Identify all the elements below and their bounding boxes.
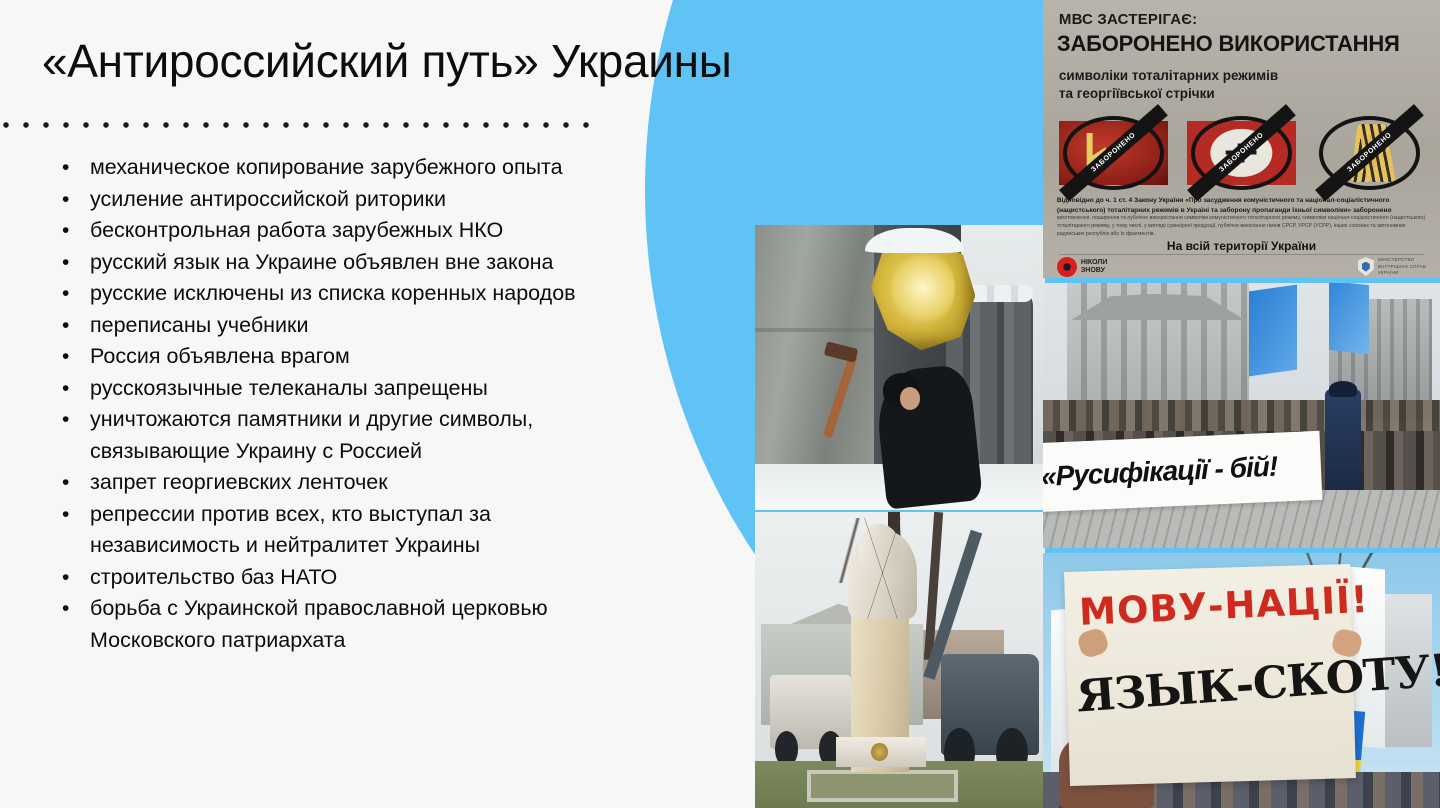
- bullet-label: русские исключены из списка коренных нар…: [90, 278, 636, 310]
- photo-bust-removal: [755, 512, 1045, 808]
- list-item: • русский язык на Украине объявлен вне з…: [46, 247, 636, 279]
- list-item: • русскоязычные телеканалы запрещены: [46, 373, 636, 405]
- bullet-marker: •: [46, 593, 90, 625]
- bullet-label: усиление антироссийской риторики: [90, 184, 636, 216]
- prohibition-icon-st-george-ribbon: ЗАБОРОНЕНО: [1315, 121, 1425, 184]
- list-item: • механическое копирование зарубежного о…: [46, 152, 636, 184]
- poster-heading-big-wrap: ЗАБОРОНЕНО ВИКОРИСТАННЯ: [1057, 33, 1430, 56]
- blue-flag: [1329, 283, 1369, 354]
- poster-fine-print-primary: Відповідно до ч. 1 ст. 4 Закону України …: [1057, 196, 1426, 215]
- page-title: «Антироссийский путь» Украины: [42, 36, 822, 88]
- poster-heading-small: МВС ЗАСТЕРІГАЄ:: [1059, 11, 1424, 28]
- list-item: • переписаны учебники: [46, 310, 636, 342]
- poster-prohibition-icons: ЗАБОРОНЕНО ЗАБОРОНЕНО ЗАБОРОНЕНО: [1059, 111, 1424, 194]
- police-cap: [1329, 381, 1357, 397]
- protest-banner: «Русифікації - бій!: [1043, 430, 1322, 511]
- poster-heading-big: ЗАБОРОНЕНО ВИКОРИСТАННЯ: [1057, 33, 1400, 55]
- placard-line-1: МОВУ-НАЦІЇ!: [1078, 579, 1343, 634]
- placard-line-2: ЯЗЫК-СКОТУ!: [1074, 653, 1351, 723]
- photo-movu-natsii-placard: МОВУ-НАЦІЇ! ЯЗЫК-СКОТУ!: [1043, 553, 1440, 808]
- poster-fine-print-secondary: виготовлення, поширення та публічне вико…: [1057, 215, 1426, 238]
- emblem-center: [891, 251, 955, 325]
- list-item: • усиление антироссийской риторики: [46, 184, 636, 216]
- list-item: • Россия объявлена врагом: [46, 341, 636, 373]
- poster-footer-right: МІНІСТЕРСТВО ВНУТРІШНІХ СПРАВ УКРАЇНИ: [1358, 257, 1426, 276]
- bullet-marker: •: [46, 247, 90, 279]
- photo-monument-destruction: [755, 225, 1045, 510]
- bullet-label: репрессии против всех, кто выступал за н…: [90, 499, 636, 562]
- list-item: • строительство баз НАТО: [46, 562, 636, 594]
- bullet-marker: •: [46, 152, 90, 184]
- dotted-divider: [0, 120, 602, 130]
- bullet-marker: •: [46, 562, 90, 594]
- ministry-label: МІНІСТЕРСТВО ВНУТРІШНІХ СПРАВ УКРАЇНИ: [1378, 257, 1426, 276]
- bullet-marker: •: [46, 310, 90, 342]
- poppy-icon: [1057, 257, 1077, 277]
- list-item: • борьба с Украинской православной церко…: [46, 593, 636, 656]
- bullet-marker: •: [46, 499, 90, 531]
- bullet-label: запрет георгиевских ленточек: [90, 467, 636, 499]
- bullet-marker: •: [46, 373, 90, 405]
- poster-center-line: На всій території України: [1043, 239, 1440, 253]
- bullet-marker: •: [46, 278, 90, 310]
- bullet-marker: •: [46, 467, 90, 499]
- list-item: • запрет георгиевских ленточек: [46, 467, 636, 499]
- bullet-marker: •: [46, 404, 90, 436]
- bullet-label: механическое копирование зарубежного опы…: [90, 152, 636, 184]
- list-item: • русские исключены из списка коренных н…: [46, 278, 636, 310]
- list-item: • репрессии против всех, кто выступал за…: [46, 499, 636, 562]
- bullet-marker: •: [46, 184, 90, 216]
- poster-footer-left: НІКОЛИ ЗНОВУ: [1057, 257, 1108, 277]
- protest-banner-text: «Русифікації - бій!: [1043, 451, 1278, 494]
- poster-divider: [1059, 254, 1424, 255]
- ministry-shield-icon: [1358, 257, 1374, 276]
- bullet-label: уничтожаются памятники и другие символы,…: [90, 404, 636, 467]
- bullet-list: • механическое копирование зарубежного о…: [46, 152, 636, 656]
- bullet-label: строительство баз НАТО: [90, 562, 636, 594]
- lifting-sling: [845, 518, 920, 619]
- prohibition-icon-soviet-flag: ЗАБОРОНЕНО: [1059, 121, 1169, 184]
- bullet-marker: •: [46, 215, 90, 247]
- bullet-label: переписаны учебники: [90, 310, 636, 342]
- poster-subheading: символіки тоталітарних режимів та георгі…: [1059, 67, 1424, 103]
- never-again-label: НІКОЛИ ЗНОВУ: [1081, 259, 1108, 275]
- monument-slab: [807, 770, 958, 803]
- bullet-label: русский язык на Украине объявлен вне зак…: [90, 247, 636, 279]
- placard-board: МОВУ-НАЦІЇ! ЯЗЫК-СКОТУ!: [1064, 564, 1356, 786]
- photo-anti-russification-rally: «Русифікації - бій!: [1043, 283, 1440, 548]
- photo-mvs-warning-poster: МВС ЗАСТЕРІГАЄ: ЗАБОРОНЕНО ВИКОРИСТАННЯ …: [1043, 0, 1440, 278]
- list-item: • уничтожаются памятники и другие символ…: [46, 404, 636, 467]
- bullet-label: Россия объявлена врагом: [90, 341, 636, 373]
- bullet-label: русскоязычные телеканалы запрещены: [90, 373, 636, 405]
- bullet-marker: •: [46, 341, 90, 373]
- list-item: • бесконтрольная работа зарубежных НКО: [46, 215, 636, 247]
- bullet-label: борьба с Украинской православной церковь…: [90, 593, 636, 656]
- prohibition-icon-nazi-flag: ЗАБОРОНЕНО: [1187, 121, 1297, 184]
- pedestal-medallion: [871, 743, 888, 761]
- blue-flag: [1249, 285, 1297, 376]
- bullet-label: бесконтрольная работа зарубежных НКО: [90, 215, 636, 247]
